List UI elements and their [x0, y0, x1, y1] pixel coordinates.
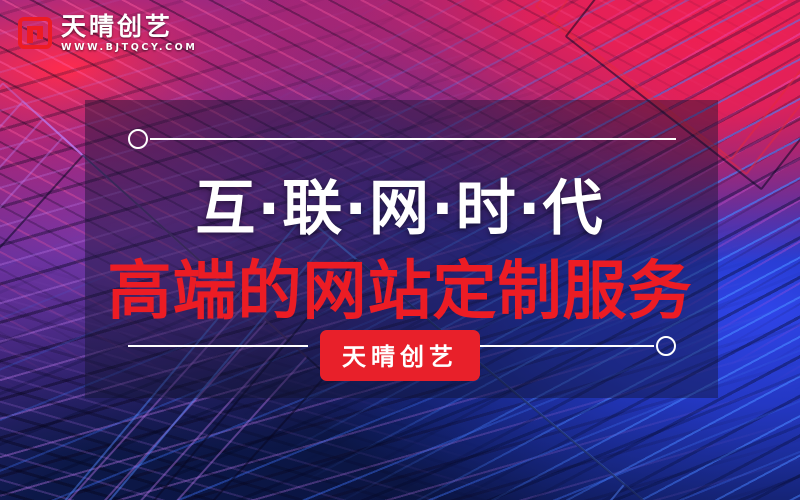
headline-secondary: 高端的网站定制服务 [0, 240, 800, 332]
brand-badge[interactable]: 天晴创艺 [320, 330, 480, 381]
tianqing-logo-mark-icon [18, 16, 52, 50]
rule-line-right [474, 345, 654, 347]
rule-line-left [128, 345, 308, 347]
promo-banner: 天晴创艺 WWW.BJTQCY.COM 互·联·网·时·代 高端的网站定制服务 … [0, 0, 800, 500]
rule-end-circle [128, 129, 148, 149]
brand-logo-text: 天晴创艺 WWW.BJTQCY.COM [61, 14, 197, 53]
brand-logo[interactable]: 天晴创艺 WWW.BJTQCY.COM [18, 14, 197, 53]
top-divider-rule [128, 138, 676, 140]
brand-name-cn: 天晴创艺 [61, 14, 197, 39]
rule-end-circle [656, 336, 676, 356]
brand-website-url: WWW.BJTQCY.COM [61, 43, 197, 53]
headline-primary: 互·联·网·时·代 [0, 160, 800, 247]
rule-line [150, 138, 676, 140]
